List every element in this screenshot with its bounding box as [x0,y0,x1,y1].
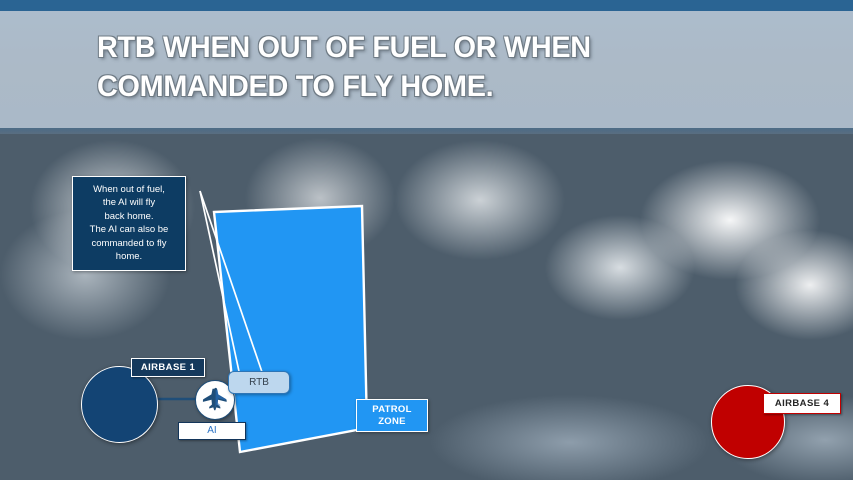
airbase-1-label: AIRBASE 1 [131,358,205,377]
airbase-4-label: AIRBASE 4 [763,393,841,414]
patrol-zone-label: PATROL ZONE [356,399,428,432]
ai-unit-label: AI [178,422,246,440]
slide-canvas: RTB WHEN OUT OF FUEL OR WHEN COMMANDED T… [0,0,853,480]
callout-line-3: back home. [77,210,181,223]
page-title: RTB WHEN OUT OF FUEL OR WHEN COMMANDED T… [97,28,769,106]
page-title-line-2: COMMANDED TO FLY HOME. [97,67,769,106]
callout-line-4: The AI can also be [77,223,181,236]
header-top-stripe [0,0,853,11]
callout-line-2: the AI will fly [77,196,181,209]
patrol-zone-label-line-2: ZONE [357,416,427,428]
header-bottom-stripe [0,128,853,134]
callout-line-5: commanded to fly home. [77,237,181,264]
patrol-zone-label-line-1: PATROL [357,404,427,416]
page-title-line-1: RTB WHEN OUT OF FUEL OR WHEN [97,28,769,67]
callout-line-1: When out of fuel, [77,183,181,196]
callout-note: When out of fuel, the AI will fly back h… [72,176,186,271]
airbase-1-marker[interactable] [81,366,158,443]
rtb-label[interactable]: RTB [228,371,290,394]
